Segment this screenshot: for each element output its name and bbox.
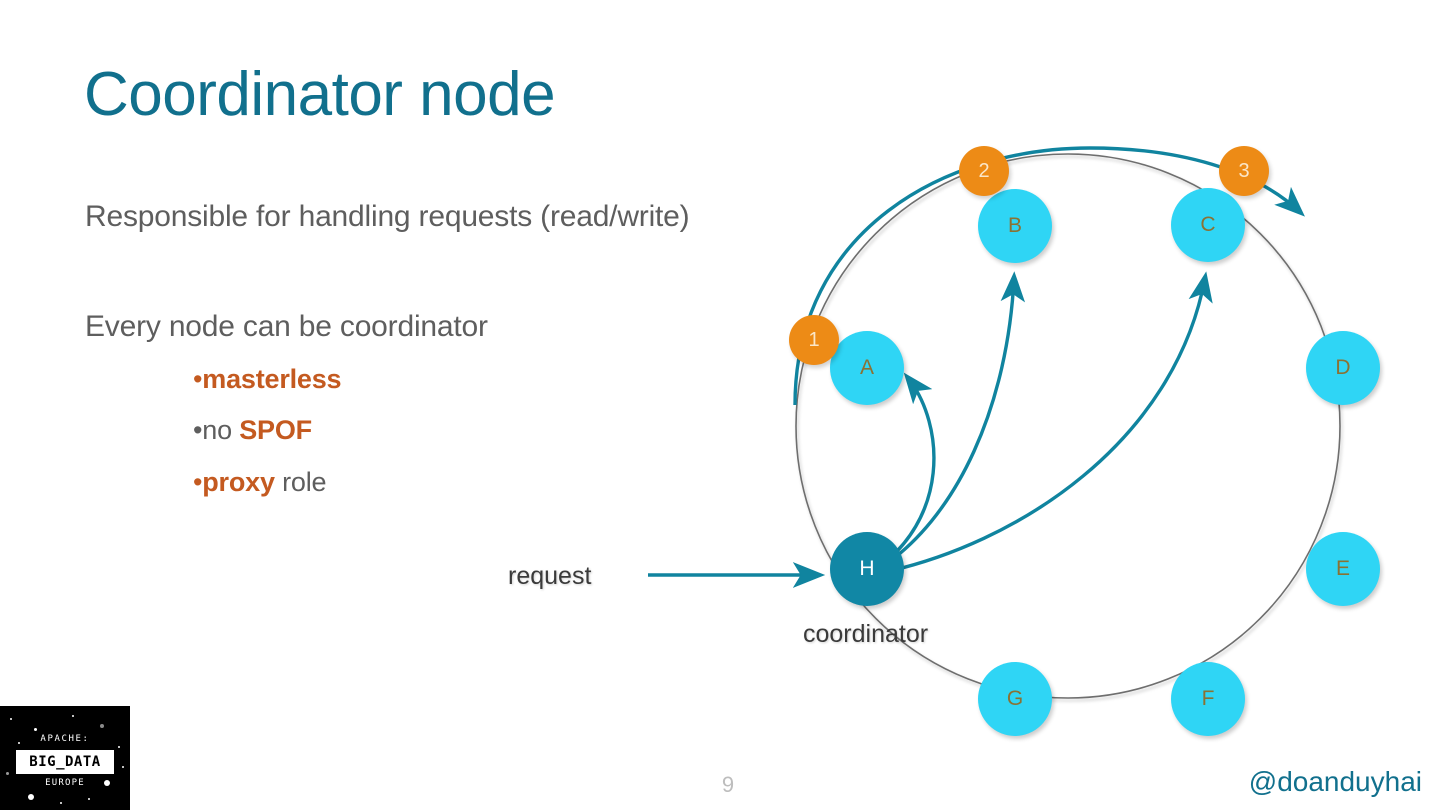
ring-node-label: C	[1200, 213, 1215, 237]
ring-node-label: H	[859, 557, 874, 581]
page-number: 9	[700, 772, 756, 798]
ring-node-label: E	[1336, 557, 1350, 581]
ring-node-f[interactable]: F	[1171, 662, 1245, 736]
step-badge-3[interactable]: 3	[1219, 146, 1269, 196]
twitter-handle: @doanduyhai	[1249, 766, 1422, 798]
step-badge-label: 3	[1238, 160, 1249, 183]
logo-europe-text: EUROPE	[0, 778, 130, 788]
logo-apache-text: APACHE:	[0, 734, 130, 744]
ring-node-b[interactable]: B	[978, 189, 1052, 263]
ring-node-d[interactable]: D	[1306, 331, 1380, 405]
arrow-h-to-b	[874, 278, 1014, 572]
ring-node-label: G	[1007, 687, 1023, 711]
ring-node-e[interactable]: E	[1306, 532, 1380, 606]
ring-node-label: F	[1202, 687, 1215, 711]
ring-node-label: D	[1335, 356, 1350, 380]
label-coordinator: coordinator	[803, 620, 928, 649]
logo-bigdata-text: BIG_DATA	[16, 750, 114, 774]
step-badge-2[interactable]: 2	[959, 146, 1009, 196]
step-badge-1[interactable]: 1	[789, 315, 839, 365]
ring-node-h-coordinator[interactable]: H	[830, 532, 904, 606]
ring-circle	[796, 154, 1340, 698]
ring-node-c[interactable]: C	[1171, 188, 1245, 262]
label-request: request	[508, 562, 591, 591]
step-badge-label: 2	[978, 160, 989, 183]
ring-node-label: B	[1008, 214, 1022, 238]
ring-node-g[interactable]: G	[978, 662, 1052, 736]
apache-bigdata-europe-logo: APACHE: BIG_DATA EUROPE	[0, 706, 130, 810]
ring-node-label: A	[860, 356, 874, 380]
ring-node-a[interactable]: A	[830, 331, 904, 405]
step-badge-label: 1	[808, 329, 819, 352]
